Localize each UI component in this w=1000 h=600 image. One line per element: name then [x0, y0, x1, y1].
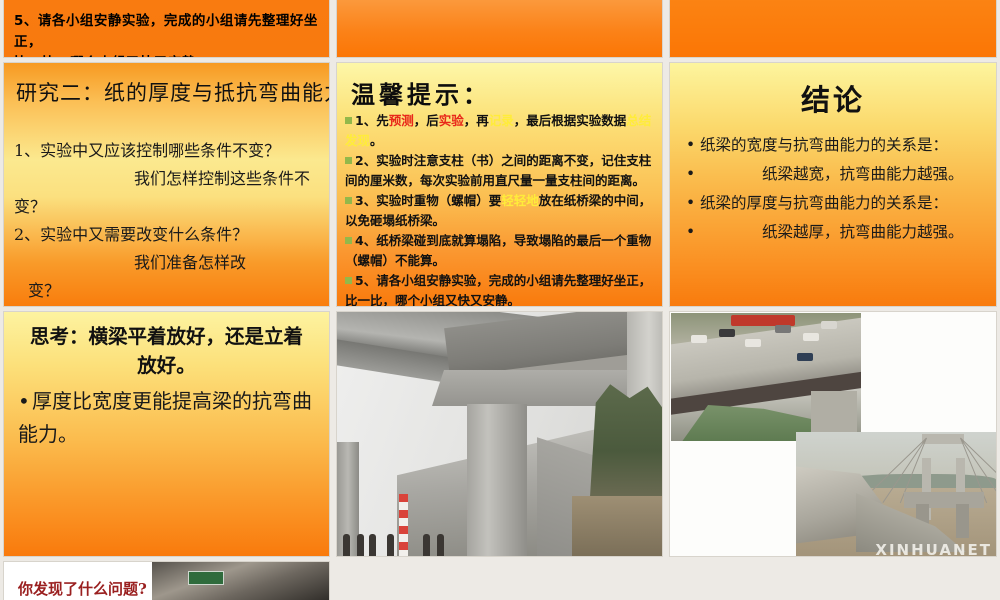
- conclusion-body: •纸梁的宽度与抗弯曲能力的关系是： •纸梁越宽，抗弯曲能力越强。 •纸梁的厚度与…: [686, 131, 986, 247]
- tip-item-5-text: 5、请各小组安静实验，完成的小组请先整理好坐正，比一比，哪个小组又快又安静。: [345, 273, 651, 307]
- bullet-dot-icon: •: [18, 385, 32, 418]
- onlookers: [339, 526, 459, 556]
- tip-item-2: 2、实验时注意支柱（书）之间的距离不变，记住支柱间的厘米数，每次实验前用直尺量一…: [345, 151, 660, 190]
- bullet-dot-icon: •: [686, 189, 700, 218]
- rubble: [572, 496, 662, 556]
- bullet-square-icon: [345, 277, 352, 284]
- tip-text-fragment: 轻轻地: [501, 193, 539, 208]
- slide-thumbnail-grid: 物（螺帽）不能算。 5、请各小组安静实验，完成的小组请先整理好坐正， 比一比，哪…: [0, 0, 1000, 600]
- tip-item-1: 1、先预测，后实验，再记录，最后根据实验数据总结发现。: [345, 111, 660, 150]
- green-road-sign: [188, 571, 224, 585]
- tip-item-5: 5、请各小组安静实验，完成的小组请先整理好坐正，比一比，哪个小组又快又安静。: [345, 271, 660, 307]
- slide-thumb-row3-left[interactable]: 思考：横梁平着放好，还是立着 放好。 •厚度比宽度更能提高梁的抗弯曲能力。: [3, 311, 330, 557]
- row1-left-line1: 物（螺帽）不能算。: [14, 0, 321, 5]
- bridge-pier-right: [956, 504, 969, 538]
- slide-thumb-row3-center[interactable]: 观察：桥的哪个部分容易断裂？ 2012年 8月24日早上5点25分，哈尔滨阳明滩…: [336, 311, 663, 557]
- row1-left-text: 物（螺帽）不能算。 5、请各小组安静实验，完成的小组请先整理好坐正， 比一比，哪…: [14, 0, 321, 58]
- slide-thumb-row4-left[interactable]: 你发现了什么问题?: [3, 561, 330, 600]
- question-1: 1、实验中又应该控制哪些条件不变？: [14, 137, 326, 165]
- question-2c: 变？: [14, 277, 326, 305]
- slide-thumb-row1-right[interactable]: [669, 0, 997, 58]
- slide-thumb-row1-center[interactable]: [336, 0, 663, 58]
- tip-text-fragment: 3、实验时重物（螺帽）要: [355, 193, 501, 208]
- conclusion-line-2: 纸梁越宽，抗弯曲能力越强。: [700, 160, 964, 189]
- tip-text-fragment: ，最后根据实验数据: [514, 113, 627, 128]
- research-two-title: 研究二：纸的厚度与抵抗弯曲能力: [16, 77, 322, 107]
- row1-left-line2: 5、请各小组安静实验，完成的小组请先整理好坐正，: [14, 11, 321, 53]
- slide-thumb-row2-left[interactable]: 研究二：纸的厚度与抵抗弯曲能力 1、实验中又应该控制哪些条件不变？ 我们怎样控制…: [3, 62, 330, 307]
- conclusion-title: 结论: [670, 77, 996, 119]
- tip-text-fragment: 预测: [389, 113, 414, 128]
- thinking-bullet-text: 厚度比宽度更能提高梁的抗弯曲能力。: [18, 389, 312, 446]
- thinking-title-line2: 放好。: [137, 354, 196, 377]
- tips-title: 温馨提示：: [351, 75, 491, 110]
- tip-item-3: 3、实验时重物（螺帽）要轻轻地放在纸桥梁的中间，以免砸塌纸桥梁。: [345, 191, 660, 230]
- row4-left-title: 你发现了什么问题?: [18, 578, 147, 599]
- bullet-square-icon: [345, 157, 352, 164]
- tip-item-4-text: 4、纸桥梁碰到底就算塌陷，导致塌陷的最后一个重物（螺帽）不能算。: [345, 233, 651, 268]
- research-two-questions: 1、实验中又应该控制哪些条件不变？ 我们怎样控制这些条件不 变？ 2、实验中又需…: [14, 137, 326, 305]
- thinking-bullet: •厚度比宽度更能提高梁的抗弯曲能力。: [18, 385, 315, 451]
- thinking-title-line1: 思考：横梁平着放好，还是立着: [30, 325, 303, 348]
- tip-text-fragment: 1、先: [355, 113, 389, 128]
- bullet-square-icon: [345, 197, 352, 204]
- jiujiang-bridge-photo: XINHUANET: [796, 432, 997, 557]
- slide-thumb-row3-right[interactable]: XINHUANET 2007年美国一桥梁坍塌，50多辆汽车坠河，造成至少6人死亡…: [669, 311, 997, 557]
- slide-thumb-row2-center[interactable]: 温馨提示： 1、先预测，后实验，再记录，最后根据实验数据总结发现。 2、实验时注…: [336, 62, 663, 307]
- tip-text-fragment: ，再: [464, 113, 489, 128]
- conclusion-line-1: 纸梁的宽度与抗弯曲能力的关系是：: [700, 136, 948, 154]
- tip-item-4: 4、纸桥梁碰到底就算塌陷，导致塌陷的最后一个重物（螺帽）不能算。: [345, 231, 660, 270]
- question-1c: 变？: [14, 193, 326, 221]
- thinking-title: 思考：横梁平着放好，还是立着 放好。: [16, 322, 317, 380]
- minneapolis-bridge-photo: [671, 313, 861, 441]
- question-2b: 我们准备怎样改: [14, 249, 246, 277]
- xinhuanet-watermark: XINHUANET: [875, 541, 992, 557]
- bullet-dot-icon: •: [686, 160, 700, 189]
- trees: [590, 382, 662, 497]
- tip-text-fragment: ，后: [414, 113, 439, 128]
- bullet-square-icon: [345, 237, 352, 244]
- bullet-dot-icon: •: [686, 218, 700, 247]
- bullet-square-icon: [345, 117, 352, 124]
- tip-item-2-text: 2、实验时注意支柱（书）之间的距离不变，记住支柱间的厘米数，每次实验前用直尺量一…: [345, 153, 651, 188]
- slide-thumb-row2-right[interactable]: 结论 •纸梁的宽度与抗弯曲能力的关系是： •纸梁越宽，抗弯曲能力越强。 •纸梁的…: [669, 62, 997, 307]
- slide-thumb-row1-left[interactable]: 物（螺帽）不能算。 5、请各小组安静实验，完成的小组请先整理好坐正， 比一比，哪…: [3, 0, 330, 58]
- tip-text-fragment: 记录: [489, 113, 514, 128]
- question-1b: 我们怎样控制这些条件不: [14, 165, 310, 193]
- conclusion-line-3: 纸梁的厚度与抗弯曲能力的关系是：: [700, 194, 948, 212]
- tip-text-fragment: 。: [370, 133, 383, 148]
- question-2: 2、实验中又需要改变什么条件？: [14, 221, 326, 249]
- row1-left-line3: 比一比，哪个小组又快又安静。: [14, 53, 321, 58]
- bullet-dot-icon: •: [686, 131, 700, 160]
- tip-text-fragment: 实验: [439, 113, 464, 128]
- collapsed-bridge-photo: [337, 312, 662, 556]
- conclusion-line-4: 纸梁越厚，抗弯曲能力越强。: [700, 218, 964, 247]
- tips-list: 1、先预测，后实验，再记录，最后根据实验数据总结发现。 2、实验时注意支柱（书）…: [345, 111, 660, 307]
- road-photo: [152, 562, 330, 600]
- main-pier: [467, 404, 527, 557]
